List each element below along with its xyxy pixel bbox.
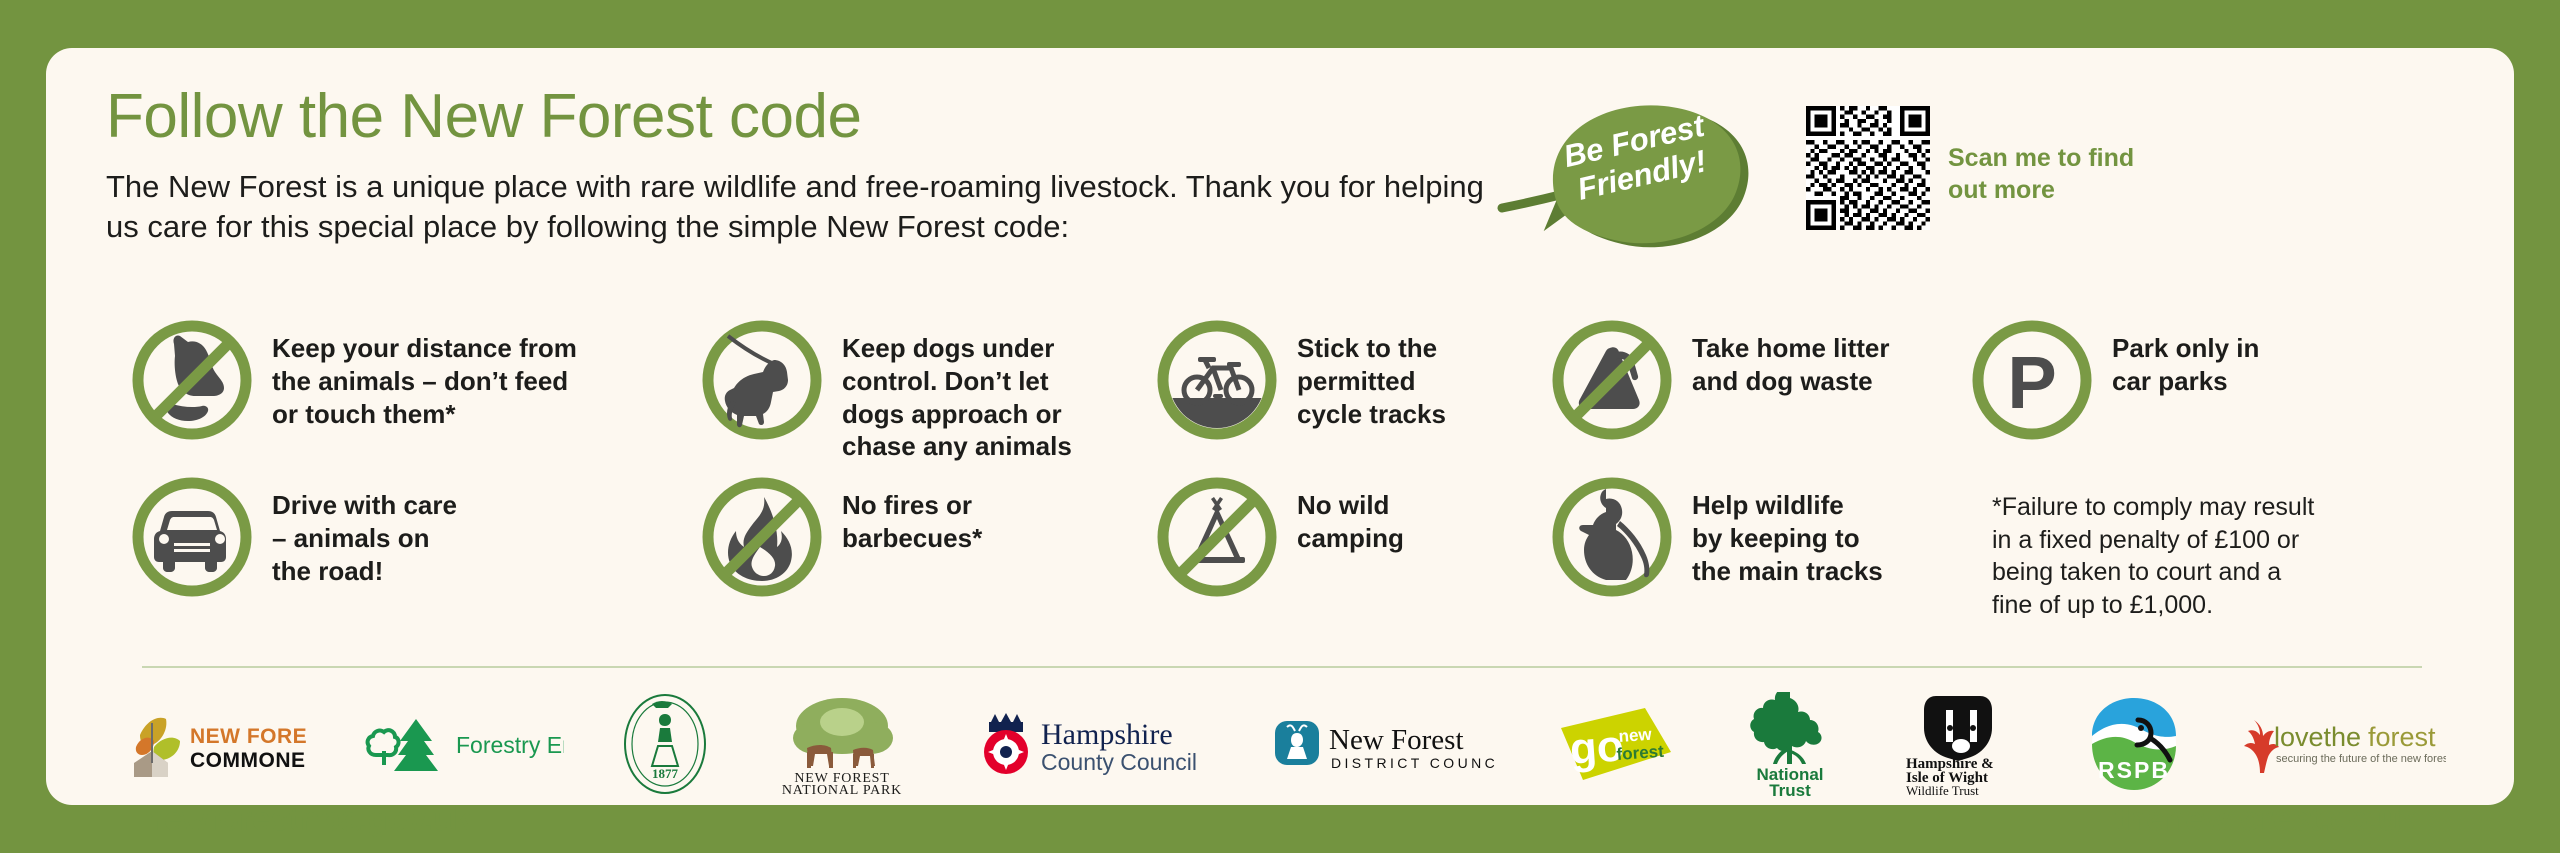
- new-forest-commoners-logo[interactable]: NEW FOREST COMMONERS: [126, 688, 306, 800]
- svg-text:RSPB: RSPB: [2098, 757, 2170, 783]
- rule-drive-with-care: Drive with care – animals on the road!: [128, 473, 698, 621]
- national-trust-logo[interactable]: National Trust: [1735, 688, 1845, 800]
- penalty-footnote: *Failure to comply may result in a fixed…: [1968, 473, 2408, 621]
- horse-no-feeding-icon: [128, 316, 256, 444]
- rule-label: Help wildlife by keeping to the main tra…: [1692, 473, 1883, 587]
- hampshire-county-council-logo[interactable]: Hampshire County Council: [975, 688, 1215, 800]
- intro-paragraph: The New Forest is a unique place with ra…: [106, 167, 1506, 248]
- parking-p-icon: P: [1968, 316, 2096, 444]
- car-front-icon: [128, 473, 256, 601]
- leaf-icon: [1492, 98, 1792, 258]
- dog-on-lead-icon: [698, 316, 826, 444]
- svg-text:NATIONAL PARK: NATIONAL PARK: [781, 783, 901, 796]
- rule-park-only-car-parks: P Park only in car parks: [1968, 316, 2408, 463]
- rule-label: Stick to the permitted cycle tracks: [1297, 316, 1446, 430]
- qr-block[interactable]: Scan me to find out more: [1806, 106, 2134, 230]
- page-title: Follow the New Forest code: [106, 84, 1536, 149]
- svg-text:Hampshire: Hampshire: [1041, 718, 1173, 751]
- rspb-logo[interactable]: RSPB: [2086, 688, 2182, 800]
- forestry-england-logo[interactable]: Forestry England: [364, 688, 564, 800]
- divider: [142, 666, 2422, 668]
- svg-text:P: P: [2007, 341, 2056, 424]
- qr-code-icon[interactable]: [1806, 106, 1930, 230]
- qr-caption: Scan me to find out more: [1948, 106, 2134, 206]
- npa-website-url[interactable]: newforestnpa.gov.uk: [144, 800, 472, 838]
- svg-text:COMMONERS: COMMONERS: [190, 749, 306, 772]
- poster-card: Follow the New Forest code The New Fores…: [46, 48, 2514, 805]
- fire-no-icon: [698, 473, 826, 601]
- rules-row-1: Keep your distance from the animals – do…: [128, 316, 2448, 463]
- rule-label: Keep dogs under control. Don’t let dogs …: [842, 316, 1072, 463]
- rule-help-wildlife: Help wildlife by keeping to the main tra…: [1548, 473, 1968, 621]
- rule-label: Drive with care – animals on the road!: [272, 473, 457, 587]
- svg-text:New Forest: New Forest: [1329, 724, 1464, 756]
- new-forest-district-council-logo[interactable]: New Forest DISTRICT COUNCIL: [1273, 688, 1495, 800]
- new-forest-national-park-logo[interactable]: NEW FOREST NATIONAL PARK: [767, 688, 917, 800]
- rule-label: No wild camping: [1297, 473, 1404, 555]
- svg-text:Wildlife Trust: Wildlife Trust: [1906, 783, 1979, 796]
- svg-text:Forestry England: Forestry England: [456, 732, 564, 758]
- litter-bag-no-icon: [1548, 316, 1676, 444]
- thenewforest-website-url[interactable]: thenewforest.co.uk: [2115, 800, 2416, 838]
- rule-dogs-under-control: Keep dogs under control. Don’t let dogs …: [698, 316, 1153, 463]
- rules-grid: Keep your distance from the animals – do…: [128, 316, 2448, 621]
- verderers-new-forest-logo[interactable]: 1877: [622, 688, 708, 800]
- svg-text:NEW FOREST: NEW FOREST: [190, 725, 306, 748]
- svg-text:Trust: Trust: [1770, 781, 1812, 796]
- rule-cycle-tracks: Stick to the permitted cycle tracks: [1153, 316, 1548, 463]
- rule-keep-distance: Keep your distance from the animals – do…: [128, 316, 698, 463]
- rule-label: No fires or barbecues*: [842, 473, 982, 555]
- rule-no-fires: No fires or barbecues*: [698, 473, 1153, 621]
- bicycle-icon: [1153, 316, 1281, 444]
- curlew-bird-icon: [1548, 473, 1676, 601]
- svg-text:County Council: County Council: [1041, 749, 1197, 775]
- tent-no-icon: [1153, 473, 1281, 601]
- rule-no-wild-camping: No wild camping: [1153, 473, 1548, 621]
- go-new-forest-logo[interactable]: go new forest: [1553, 688, 1677, 800]
- rule-label: Keep your distance from the animals – do…: [272, 316, 577, 430]
- rule-take-home-litter: Take home litter and dog waste: [1548, 316, 1968, 463]
- svg-text:forest: forest: [2368, 722, 2436, 752]
- svg-text:securing the future of the new: securing the future of the new forest: [2276, 753, 2446, 765]
- love-the-forest-logo[interactable]: lovethe forest securing the future of th…: [2240, 688, 2446, 800]
- svg-text:1877: 1877: [652, 766, 679, 781]
- svg-text:forest: forest: [1616, 742, 1665, 764]
- rules-row-2: Drive with care – animals on the road! N…: [128, 473, 2448, 621]
- svg-text:DISTRICT COUNCIL: DISTRICT COUNCIL: [1331, 755, 1495, 771]
- partner-logos: NEW FOREST COMMONERS Forestry England: [126, 688, 2446, 800]
- be-forest-friendly-badge: Be Forest Friendly!: [1492, 98, 1792, 258]
- rule-label: Take home litter and dog waste: [1692, 316, 1889, 398]
- svg-text:lovethe: lovethe: [2274, 722, 2361, 752]
- header: Follow the New Forest code The New Fores…: [106, 84, 1536, 248]
- hampshire-isle-of-wight-wildlife-trust-logo[interactable]: Hampshire & Isle of Wight Wildlife Trust: [1904, 688, 2028, 800]
- rule-label: Park only in car parks: [2112, 316, 2259, 398]
